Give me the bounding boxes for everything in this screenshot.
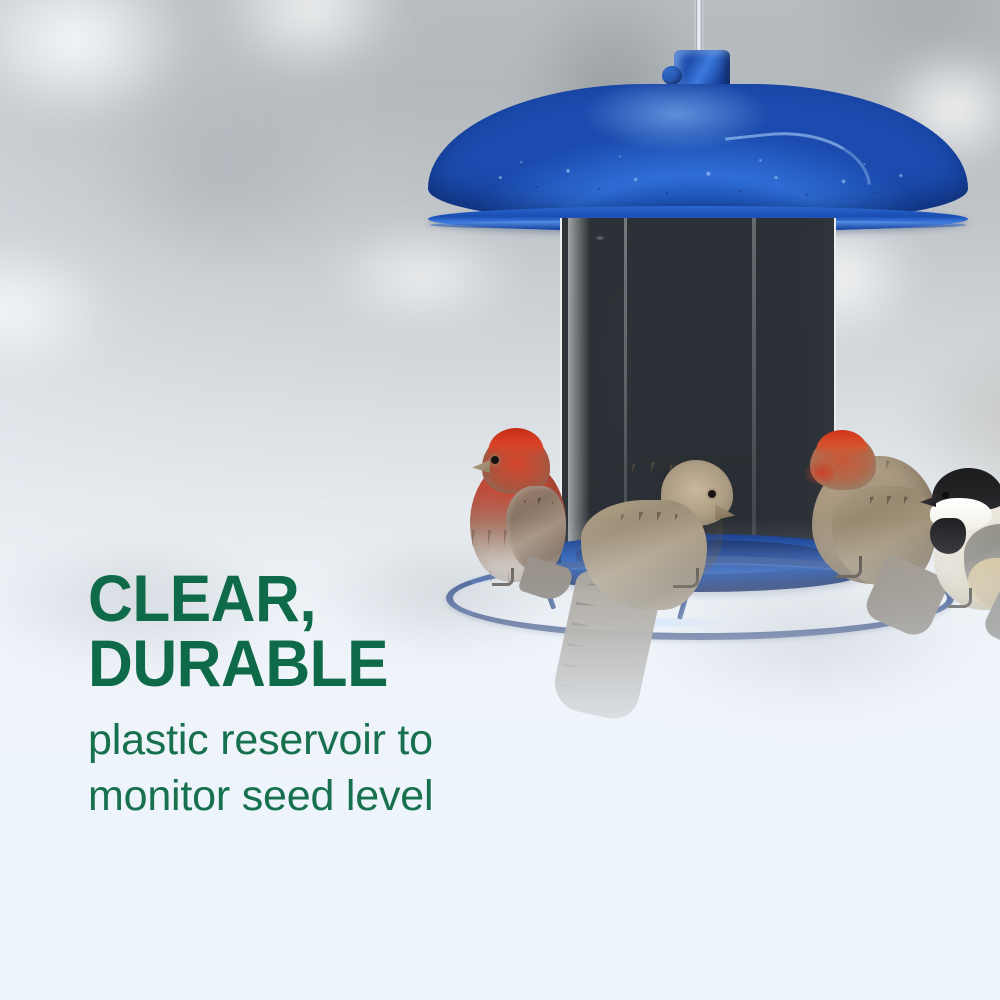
finch-red-crown [816,430,868,456]
subheadline-line-1: plastic reservoir to [88,713,608,769]
subheadline: plastic reservoir to monitor seed level [88,713,608,825]
chickadee-eye [942,492,949,499]
finch-beak [472,460,490,473]
feeder-photo [0,0,1000,1000]
marketing-copy-block: CLEAR, DURABLE plastic reservoir to moni… [88,566,608,825]
finch-red-crown [488,428,544,458]
product-feature-image: CLEAR, DURABLE plastic reservoir to moni… [0,0,1000,1000]
finch-eye [491,456,499,464]
finch-eye [708,490,716,498]
headline-line-2: DURABLE [88,631,577,696]
finch-red-throat [804,460,834,486]
reservoir-seam-right [752,218,756,550]
headline: CLEAR, DURABLE [88,566,577,695]
headline-line-1: CLEAR, [88,566,577,631]
subheadline-line-2: monitor seed level [88,769,608,825]
feeder-roof [428,84,968,232]
finial-side-nub [662,66,682,85]
